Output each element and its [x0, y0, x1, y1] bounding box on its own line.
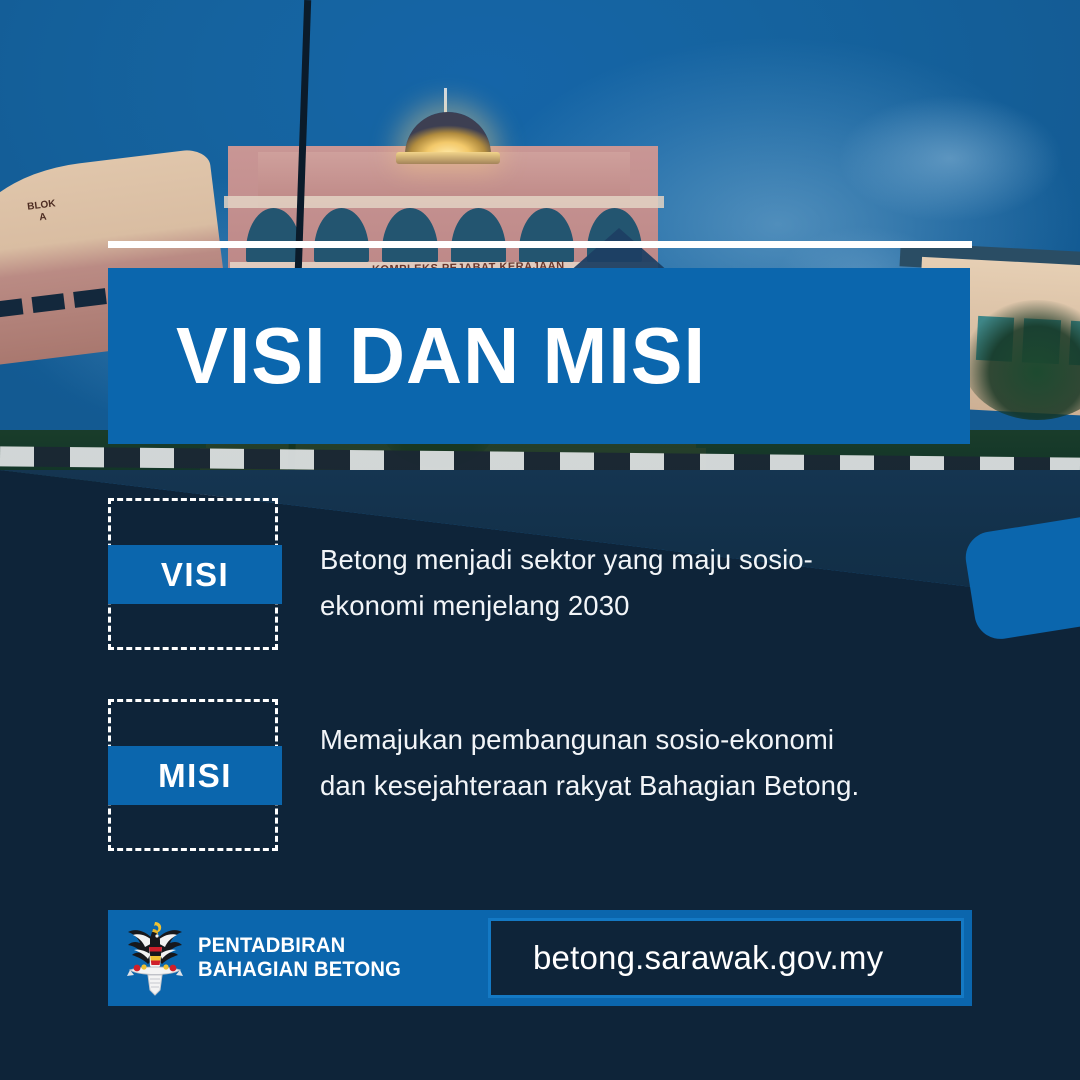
footer-brand: PENTADBIRAN BAHAGIAN BETONG [108, 910, 488, 1006]
footer-brand-line2: BAHAGIAN BETONG [198, 958, 401, 981]
building-arches-upper [246, 208, 642, 262]
poster-canvas: BLOK A KOMPLEKS PEJABAT KERAJAAN [0, 0, 1080, 1080]
footer-url-text[interactable]: betong.sarawak.gov.my [533, 939, 883, 977]
title-rule [108, 241, 972, 248]
sarawak-coat-of-arms-icon [124, 918, 186, 998]
building-dome-base [396, 152, 500, 164]
visi-badge: VISI [108, 545, 282, 604]
visi-badge-frame: VISI [108, 498, 278, 650]
blok-a-label: BLOK A [27, 198, 58, 224]
footer-brand-text: PENTADBIRAN BAHAGIAN BETONG [198, 934, 401, 981]
misi-badge-frame: MISI [108, 699, 278, 851]
footer-url-container: betong.sarawak.gov.my [488, 910, 972, 1006]
misi-badge: MISI [108, 746, 282, 805]
page-title: VISI DAN MISI [176, 316, 706, 396]
title-banner: VISI DAN MISI [108, 268, 970, 444]
misi-body-text: Memajukan pembangunan sosio-ekonomi dan … [320, 717, 880, 809]
building-cornice-upper [224, 196, 664, 208]
visi-badge-label: VISI [161, 558, 229, 591]
footer-bar: PENTADBIRAN BAHAGIAN BETONG betong.saraw… [108, 910, 972, 1006]
footer-brand-line1: PENTADBIRAN [198, 934, 345, 957]
misi-badge-label: MISI [158, 759, 232, 792]
visi-body-text: Betong menjadi sektor yang maju sosio-ek… [320, 537, 880, 629]
footer-url-box[interactable]: betong.sarawak.gov.my [488, 918, 964, 998]
